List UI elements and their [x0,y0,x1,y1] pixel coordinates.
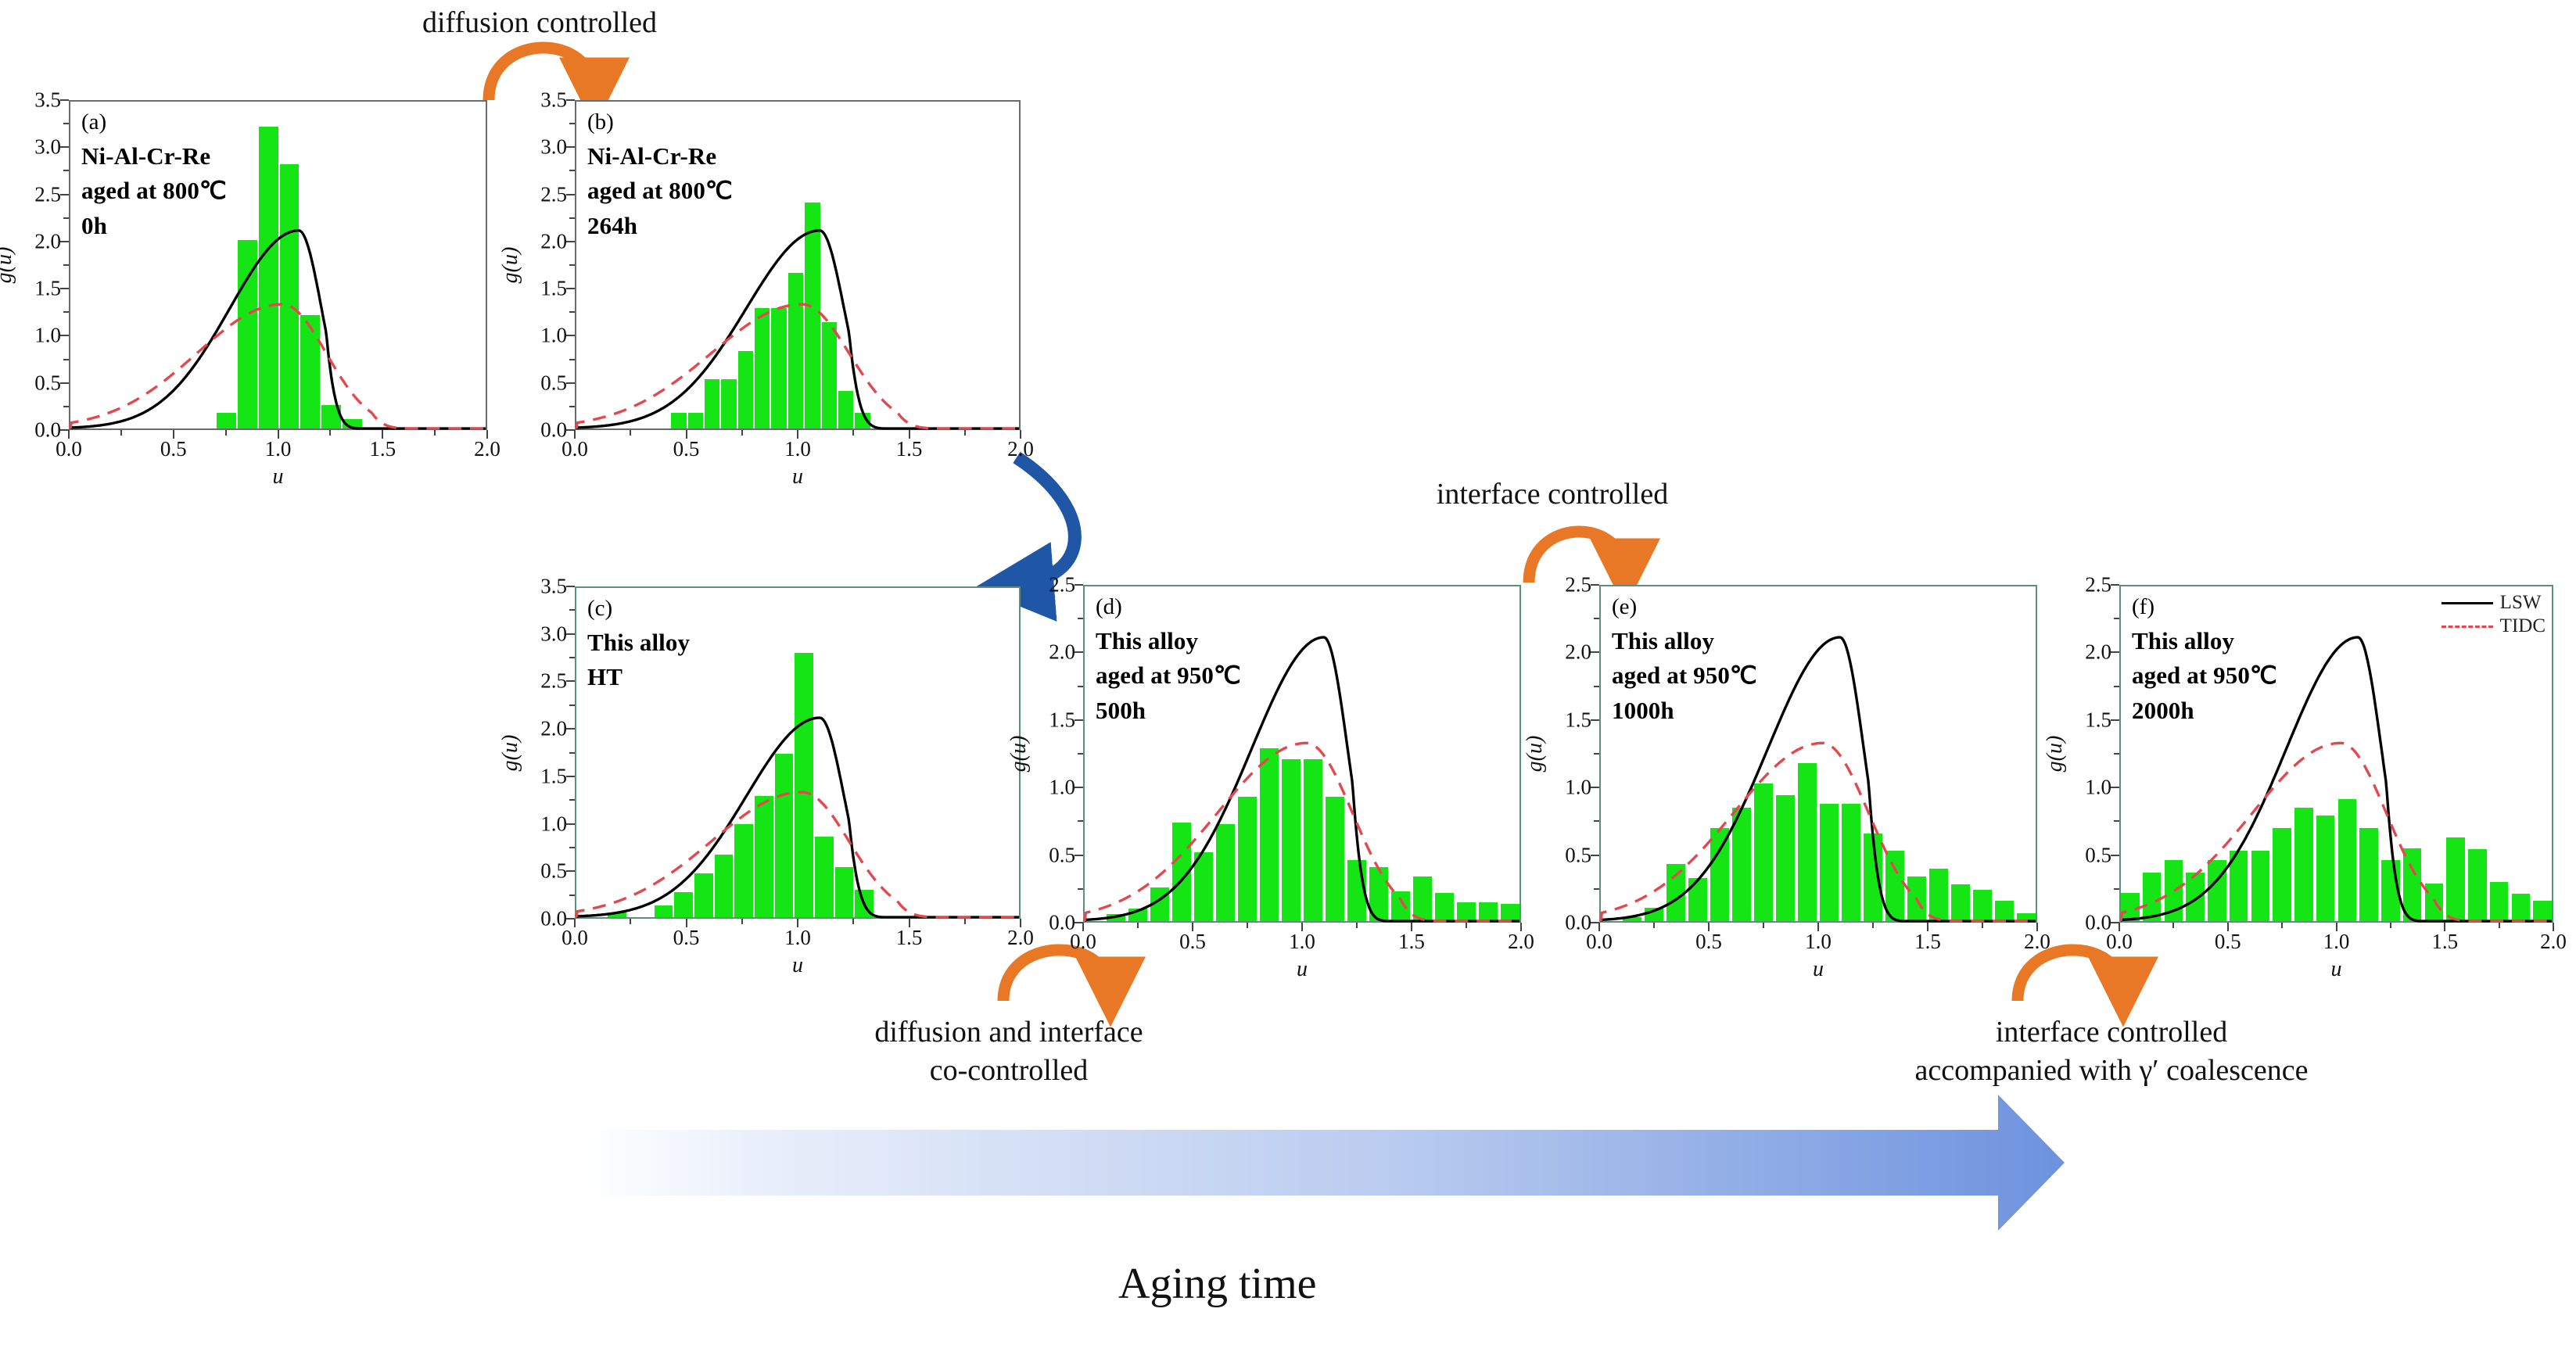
x-tick-label: 0.5 [160,437,187,461]
y-tick [60,288,69,289]
x-tick-label: 1.5 [896,437,923,461]
chart-legend: LSWTIDC [2441,591,2546,638]
y-tick [566,870,575,872]
panel-tag: (e) [1612,591,1757,624]
y-minor-tick [63,217,69,219]
x-axis-title: u [792,953,803,978]
y-minor-tick [1078,618,1083,619]
x-minor-tick [630,919,631,924]
y-tick [1591,584,1599,586]
y-minor-tick [569,752,575,754]
y-tick-label: 3.0 [540,622,567,646]
aging-time-arrow [583,1095,2065,1231]
y-minor-tick [63,170,69,171]
panel-annotation-line: 2000h [2132,694,2277,729]
curve-tidc [576,792,1019,917]
y-tick [1075,787,1083,788]
y-minor-tick [2114,753,2119,755]
panel-annotation: (b)Ni-Al-Cr-Reaged at 800℃264h [587,106,733,244]
x-minor-tick [2281,923,2283,928]
y-minor-tick [63,359,69,360]
panel-annotation-line: 0h [81,209,227,244]
y-tick-label: 2.5 [1049,573,1075,597]
y-minor-tick [2114,618,2119,619]
y-tick-label: 3.5 [540,575,567,599]
x-tick-label: 1.0 [265,437,292,461]
x-minor-tick [1872,923,1874,928]
x-minor-tick [1653,923,1655,928]
annotation-diffusion-and-interface-co-controlled: diffusion and interface co-controlled [790,1013,1228,1091]
y-tick-label: 2.5 [540,669,567,694]
y-tick [2111,787,2119,788]
y-tick [60,241,69,242]
panel-tag: (f) [2132,591,2277,624]
chart-panel-d: (d)This alloyaged at 950℃500h0.00.51.01.… [1083,585,1521,923]
x-tick-label: 1.0 [1805,930,1832,954]
panel-annotation-line: Ni-Al-Cr-Re [587,139,733,174]
panel-annotation: (e)This alloyaged at 950℃1000h [1612,591,1757,729]
x-tick-label: 2.0 [2024,930,2050,954]
chart-panel-c: (c)This alloyHT0.00.51.01.52.02.53.03.50… [575,586,1021,919]
x-minor-tick [2172,923,2174,928]
annotation-diffusion-controlled: diffusion controlled [356,4,723,42]
y-tick-label: 0.5 [1565,843,1591,867]
y-minor-tick [63,311,69,313]
legend-label: LSW [2500,592,2542,614]
x-tick-label: 0.5 [1695,930,1722,954]
x-tick-label: 1.5 [1398,930,1425,954]
x-axis-title: u [1813,957,1824,982]
panel-annotation-line: aged at 950℃ [1096,658,1241,694]
y-tick-label: 1.0 [1565,776,1591,800]
y-minor-tick [1594,618,1599,619]
panel-tag: (d) [1096,591,1241,624]
plot-frame: (d)This alloyaged at 950℃500h [1083,585,1521,923]
y-tick [566,680,575,682]
x-tick-label: 2.0 [1508,930,1534,954]
y-tick-label: 1.5 [34,277,61,301]
y-minor-tick [2114,888,2119,890]
y-tick-label: 2.0 [540,229,567,253]
panel-annotation-line: aged at 800℃ [587,174,733,209]
x-axis-title: u [1297,957,1308,982]
y-minor-tick [569,123,575,124]
y-tick [566,146,575,148]
y-tick-label: 0.5 [1049,843,1075,867]
x-tick-label: 0.5 [2215,930,2241,954]
panel-annotation-line: 264h [587,209,733,244]
panel-annotation-line: This alloy [1096,624,1241,659]
y-tick-label: 2.0 [1049,640,1075,665]
x-minor-tick [1356,923,1358,928]
x-minor-tick [852,430,854,436]
y-minor-tick [63,123,69,124]
curve-lsw [576,231,1019,428]
x-minor-tick [741,430,743,436]
y-minor-tick [569,894,575,896]
panel-annotation-line: aged at 950℃ [1612,658,1757,694]
x-minor-tick [1247,923,1248,928]
legend-swatch [2441,626,2493,628]
chart-panel-a: (a)Ni-Al-Cr-Reaged at 800℃0h0.00.51.01.5… [69,100,487,430]
panel-annotation-line: This alloy [2132,624,2277,659]
curve-lsw [70,231,486,428]
y-minor-tick [2114,820,2119,822]
y-minor-tick [569,264,575,266]
y-tick [566,288,575,289]
chart-panel-b: (b)Ni-Al-Cr-Reaged at 800℃264h0.00.51.01… [575,100,1021,430]
x-tick-label: 2.0 [1007,437,1034,461]
y-minor-tick [1594,753,1599,755]
legend-entry: TIDC [2441,615,2546,638]
y-tick-label: 1.5 [540,764,567,788]
y-tick-label: 1.5 [2085,708,2111,732]
y-tick-label: 2.5 [1565,573,1591,597]
x-axis-title: u [2331,957,2342,982]
y-minor-tick [569,359,575,360]
arrow-e-to-f [2018,950,2123,1001]
y-minor-tick [63,264,69,266]
y-minor-tick [569,704,575,706]
x-tick-label: 0.5 [1179,930,1206,954]
x-minor-tick [964,430,966,436]
plot-frame: (e)This alloyaged at 950℃1000h [1599,585,2037,923]
y-tick [566,382,575,384]
y-tick [60,382,69,384]
y-minor-tick [569,799,575,801]
y-tick [60,194,69,195]
x-minor-tick [964,919,966,924]
x-tick-label: 1.0 [1289,930,1315,954]
x-minor-tick [2390,923,2391,928]
y-axis-title: g(u) [1006,736,1031,773]
annotation-interface-controlled-coalescence: interface controlled accompanied with γ′… [1752,1013,2471,1091]
x-minor-tick [852,919,854,924]
y-tick-label: 3.5 [540,88,567,113]
y-tick-label: 0.5 [2085,843,2111,867]
x-tick-label: 0.0 [2106,930,2133,954]
y-tick [1591,855,1599,856]
x-minor-tick [630,430,631,436]
y-minor-tick [569,170,575,171]
curve-tidc [1085,743,1519,921]
legend-swatch [2441,602,2493,604]
y-tick [2111,651,2119,653]
panel-annotation: (d)This alloyaged at 950℃500h [1096,591,1241,729]
y-tick [1591,787,1599,788]
y-tick [566,241,575,242]
y-minor-tick [569,847,575,848]
y-axis-title: g(u) [2043,736,2068,773]
y-minor-tick [1078,888,1083,890]
y-minor-tick [63,406,69,407]
y-tick-label: 2.0 [1565,640,1591,665]
panel-tag: (b) [587,106,733,139]
y-tick-label: 1.5 [1565,708,1591,732]
y-tick [1591,719,1599,721]
panel-annotation: (a)Ni-Al-Cr-Reaged at 800℃0h [81,106,227,244]
x-tick-label: 2.0 [474,437,500,461]
y-tick-label: 2.5 [540,182,567,206]
panel-tag: (c) [587,593,690,626]
plot-frame: (f)This alloyaged at 950℃2000hLSWTIDC [2119,585,2553,923]
arrow-c-to-d [1003,950,1110,1001]
panel-annotation: (c)This alloyHT [587,593,690,695]
panel-annotation-line: 500h [1096,694,1241,729]
y-tick-label: 3.0 [540,135,567,160]
y-tick-label: 2.0 [2085,640,2111,665]
x-tick-label: 0.0 [56,437,82,461]
y-minor-tick [2114,686,2119,687]
y-tick [2111,584,2119,586]
y-axis-title: g(u) [1523,736,1548,773]
y-tick [1075,719,1083,721]
panel-annotation: (f)This alloyaged at 950℃2000h [2132,591,2277,729]
y-tick [566,823,575,825]
y-tick-label: 2.5 [34,182,61,206]
panel-annotation-line: This alloy [1612,624,1757,659]
plot-frame: (b)Ni-Al-Cr-Reaged at 800℃264h [575,100,1021,430]
y-tick-label: 1.0 [2085,776,2111,800]
legend-entry: LSW [2441,591,2546,615]
x-tick-label: 0.0 [1586,930,1613,954]
y-tick-label: 2.0 [34,229,61,253]
x-tick-label: 0.0 [561,926,588,950]
x-minor-tick [1763,923,1764,928]
x-minor-tick [1466,923,1467,928]
x-tick-label: 0.0 [1070,930,1096,954]
panel-tag: (a) [81,106,227,139]
y-minor-tick [1078,820,1083,822]
y-tick [60,99,69,101]
x-minor-tick [434,430,436,436]
plot-frame: (a)Ni-Al-Cr-Reaged at 800℃0h [69,100,487,430]
y-tick [566,776,575,777]
y-tick [566,99,575,101]
x-tick-label: 1.0 [784,437,811,461]
y-tick [2111,855,2119,856]
y-tick [1075,651,1083,653]
y-minor-tick [1594,888,1599,890]
y-tick-label: 3.0 [34,135,61,160]
x-tick-label: 1.5 [896,926,923,950]
y-tick-label: 1.0 [540,812,567,836]
y-minor-tick [569,609,575,611]
x-tick-label: 1.0 [784,926,811,950]
y-tick-label: 1.5 [1049,708,1075,732]
x-minor-tick [329,430,331,436]
panel-annotation-line: This alloy [587,626,690,661]
y-tick-label: 1.5 [540,277,567,301]
y-axis-title: g(u) [0,247,17,284]
y-minor-tick [1078,753,1083,755]
y-tick [566,194,575,195]
annotation-interface-controlled: interface controlled [1365,475,1740,514]
panel-annotation-line: 1000h [1612,694,1757,729]
x-minor-tick [741,919,743,924]
aging-time-label: Aging time [1118,1259,1317,1309]
x-tick-label: 1.5 [1914,930,1941,954]
panel-annotation-line: HT [587,660,690,695]
arrow-b-to-c [1013,457,1075,585]
panel-annotation-line: aged at 800℃ [81,174,227,209]
y-tick-label: 1.0 [1049,776,1075,800]
legend-label: TIDC [2500,615,2546,637]
y-tick [566,335,575,336]
y-tick-label: 2.5 [2085,573,2111,597]
x-minor-tick [225,430,227,436]
y-tick [2111,719,2119,721]
x-axis-title: u [792,464,803,489]
y-tick [566,728,575,730]
y-minor-tick [1594,686,1599,687]
y-minor-tick [569,217,575,219]
x-tick-label: 2.0 [2540,930,2567,954]
y-tick-label: 0.5 [540,859,567,884]
chart-panel-f: (f)This alloyaged at 950℃2000hLSWTIDC0.0… [2119,585,2553,923]
x-tick-label: 1.5 [369,437,396,461]
y-tick [60,146,69,148]
y-tick-label: 2.0 [540,717,567,741]
curve-tidc [576,304,1019,428]
chart-panel-e: (e)This alloyaged at 950℃1000h0.00.51.01… [1599,585,2037,923]
curve-tidc [2121,743,2552,921]
y-tick-label: 0.5 [540,371,567,395]
x-minor-tick [120,430,122,436]
panel-annotation-line: aged at 950℃ [2132,658,2277,694]
x-minor-tick [2499,923,2500,928]
y-tick [1591,651,1599,653]
y-tick-label: 0.5 [34,371,61,395]
y-tick [1075,584,1083,586]
x-tick-label: 1.5 [2431,930,2458,954]
x-minor-tick [1137,923,1139,928]
y-tick-label: 3.5 [34,88,61,113]
panel-annotation-line: Ni-Al-Cr-Re [81,139,227,174]
y-minor-tick [569,311,575,313]
y-minor-tick [1594,820,1599,822]
y-tick [566,633,575,635]
plot-frame: (c)This alloyHT [575,586,1021,919]
x-minor-tick [1982,923,1983,928]
y-minor-tick [569,657,575,658]
y-axis-title: g(u) [498,734,523,771]
y-tick [566,586,575,587]
y-tick-label: 1.0 [540,324,567,348]
x-tick-label: 0.5 [673,437,700,461]
curve-tidc [1601,743,2036,921]
y-minor-tick [1078,686,1083,687]
x-axis-title: u [273,464,284,489]
y-minor-tick [569,406,575,407]
y-axis-title: g(u) [498,247,523,284]
x-tick-label: 1.0 [2323,930,2350,954]
y-tick-label: 1.0 [34,324,61,348]
y-tick [60,335,69,336]
curve-lsw [576,718,1019,917]
x-tick-label: 2.0 [1007,926,1034,950]
curve-tidc [70,304,486,428]
x-tick-label: 0.5 [673,926,700,950]
y-tick [1075,855,1083,856]
x-tick-label: 0.0 [561,437,588,461]
